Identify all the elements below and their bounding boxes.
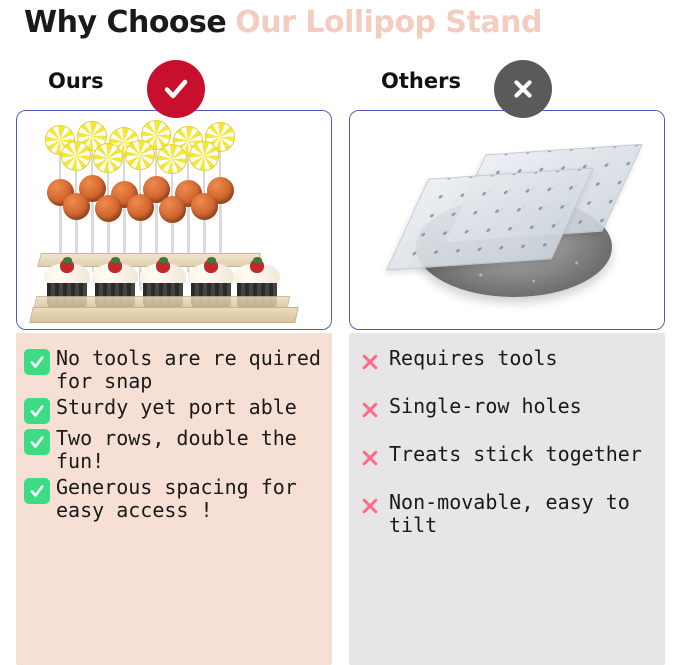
cake-pop	[95, 195, 122, 222]
cross-badge-icon	[494, 60, 552, 118]
stand-base-board-edge	[34, 296, 291, 308]
check-badge-icon	[147, 60, 205, 118]
check-icon	[24, 478, 50, 504]
others-feature-panel: Requires tools Single-row holes Treats s…	[349, 333, 665, 665]
list-item: Non-movable, easy to tilt	[357, 491, 657, 537]
list-item: Single-row holes	[357, 395, 657, 423]
list-item-label: Requires tools	[389, 347, 558, 370]
list-item-label: Two rows, double the fun!	[56, 427, 324, 473]
cross-icon	[357, 397, 383, 423]
cake-pop	[191, 193, 218, 220]
ours-feature-panel: No tools are re quired for snap Sturdy y…	[16, 333, 332, 665]
list-item: Requires tools	[357, 347, 657, 375]
list-item: Generous spacing for easy access !	[24, 476, 324, 522]
acrylic-plates-illustration	[350, 111, 664, 329]
list-item-label: Treats stick together	[389, 443, 642, 466]
others-feature-list: Requires tools Single-row holes Treats s…	[349, 333, 665, 537]
check-icon	[24, 429, 50, 455]
lollipop-stand-illustration	[17, 111, 331, 329]
page-title: Why Choose Our Lollipop Stand	[24, 0, 664, 44]
cross-icon	[357, 493, 383, 519]
column-others-title: Others	[381, 69, 461, 93]
ours-product-image	[16, 110, 332, 330]
others-product-image	[349, 110, 665, 330]
comparison-columns: Ours	[0, 48, 679, 665]
cross-icon	[357, 445, 383, 471]
cake-pop	[159, 196, 186, 223]
check-icon	[24, 349, 50, 375]
list-item: No tools are re quired for snap	[24, 347, 324, 393]
column-ours-title: Ours	[48, 69, 104, 93]
page-title-secondary: Our Lollipop Stand	[235, 5, 542, 40]
ours-feature-list: No tools are re quired for snap Sturdy y…	[16, 333, 332, 522]
list-item-label: Non-movable, easy to tilt	[389, 491, 657, 537]
cross-icon	[357, 349, 383, 375]
cake-pop	[63, 193, 90, 220]
list-item-label: Sturdy yet port able	[56, 396, 297, 419]
cake-pop	[127, 194, 154, 221]
check-icon	[24, 398, 50, 424]
list-item-label: Single-row holes	[389, 395, 582, 418]
list-item: Two rows, double the fun!	[24, 427, 324, 473]
list-item: Sturdy yet port able	[24, 396, 324, 424]
list-item-label: No tools are re quired for snap	[56, 347, 324, 393]
list-item-label: Generous spacing for easy access !	[56, 476, 324, 522]
list-item: Treats stick together	[357, 443, 657, 471]
stand-base-board	[29, 307, 298, 323]
page-title-primary: Why Choose	[24, 5, 226, 40]
